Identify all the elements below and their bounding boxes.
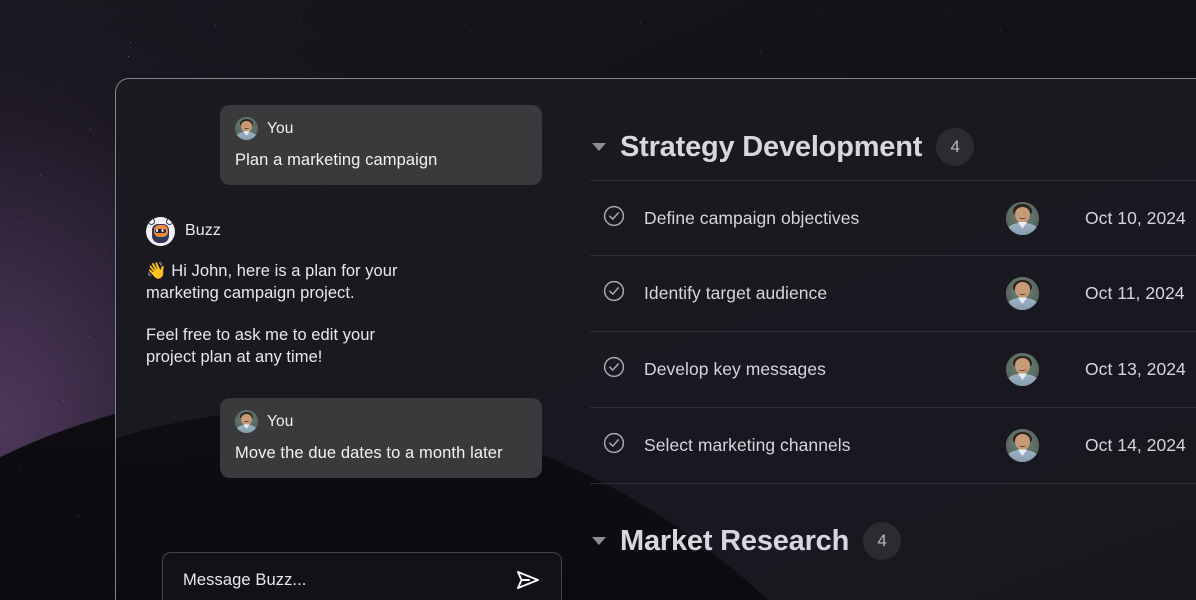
- chat-message-list[interactable]: You Plan a marketing campaign Buzz �: [146, 105, 542, 552]
- message-text: Move the due dates to a month later: [235, 443, 527, 464]
- message-header: You: [235, 117, 527, 140]
- table-row[interactable]: Select marketing channels Oct 14, 2024: [590, 408, 1196, 484]
- chat-message-user: You Move the due dates to a month later: [220, 398, 542, 478]
- message-input[interactable]: [183, 571, 512, 590]
- circle-check-icon[interactable]: [602, 355, 626, 384]
- task-section-title: Strategy Development: [620, 131, 922, 164]
- chevron-down-icon[interactable]: [592, 143, 606, 151]
- task-title: Define campaign objectives: [644, 208, 1006, 229]
- chat-message-assistant: Buzz 👋 Hi John, here is a plan for your …: [146, 217, 542, 368]
- task-panel: Strategy Development 4 Define campaign o…: [572, 79, 1196, 600]
- task-list: Define campaign objectives Oct 10, 2024 …: [590, 180, 1196, 484]
- task-count-badge: 4: [863, 522, 901, 560]
- message-author: Buzz: [185, 222, 221, 240]
- message-author: You: [267, 120, 293, 138]
- task-due-date: Oct 14, 2024: [1085, 435, 1196, 456]
- message-text: Plan a marketing campaign: [235, 150, 527, 171]
- circle-check-icon[interactable]: [602, 431, 626, 460]
- user-photo-avatar[interactable]: [1006, 277, 1039, 310]
- task-section-title: Market Research: [620, 525, 849, 558]
- chevron-down-icon[interactable]: [592, 537, 606, 545]
- task-count-badge: 4: [936, 128, 974, 166]
- message-header: Buzz: [146, 217, 542, 246]
- user-photo-avatar: [235, 117, 258, 140]
- task-due-date: Oct 10, 2024: [1085, 208, 1196, 229]
- table-row[interactable]: Identify target audience Oct 11, 2024: [590, 256, 1196, 332]
- app-window-card: You Plan a marketing campaign Buzz �: [115, 78, 1196, 600]
- task-title: Identify target audience: [644, 283, 1006, 304]
- circle-check-icon[interactable]: [602, 279, 626, 308]
- circle-check-icon[interactable]: [602, 204, 626, 233]
- chat-panel: You Plan a marketing campaign Buzz �: [116, 79, 572, 600]
- message-author: You: [267, 413, 293, 431]
- task-due-date: Oct 13, 2024: [1085, 359, 1196, 380]
- user-photo-avatar[interactable]: [1006, 353, 1039, 386]
- task-title: Select marketing channels: [644, 435, 1006, 456]
- task-section-header[interactable]: Strategy Development 4: [580, 114, 1196, 180]
- message-paragraph: Feel free to ask me to edit your project…: [146, 324, 426, 368]
- table-row[interactable]: Develop key messages Oct 13, 2024: [590, 332, 1196, 408]
- table-row[interactable]: Define campaign objectives Oct 10, 2024: [590, 180, 1196, 256]
- send-paper-plane-icon[interactable]: [512, 564, 544, 596]
- task-section-header[interactable]: Market Research 4: [580, 508, 1196, 574]
- message-header: You: [235, 410, 527, 433]
- buzz-mascot-avatar: [146, 217, 175, 246]
- user-photo-avatar[interactable]: [1006, 202, 1039, 235]
- user-photo-avatar[interactable]: [1006, 429, 1039, 462]
- user-photo-avatar: [235, 410, 258, 433]
- message-paragraph: 👋 Hi John, here is a plan for your marke…: [146, 260, 426, 304]
- message-composer[interactable]: [162, 552, 562, 600]
- chat-message-user: You Plan a marketing campaign: [220, 105, 542, 185]
- task-title: Develop key messages: [644, 359, 1006, 380]
- task-due-date: Oct 11, 2024: [1085, 283, 1196, 304]
- app-background: You Plan a marketing campaign Buzz �: [0, 0, 1196, 600]
